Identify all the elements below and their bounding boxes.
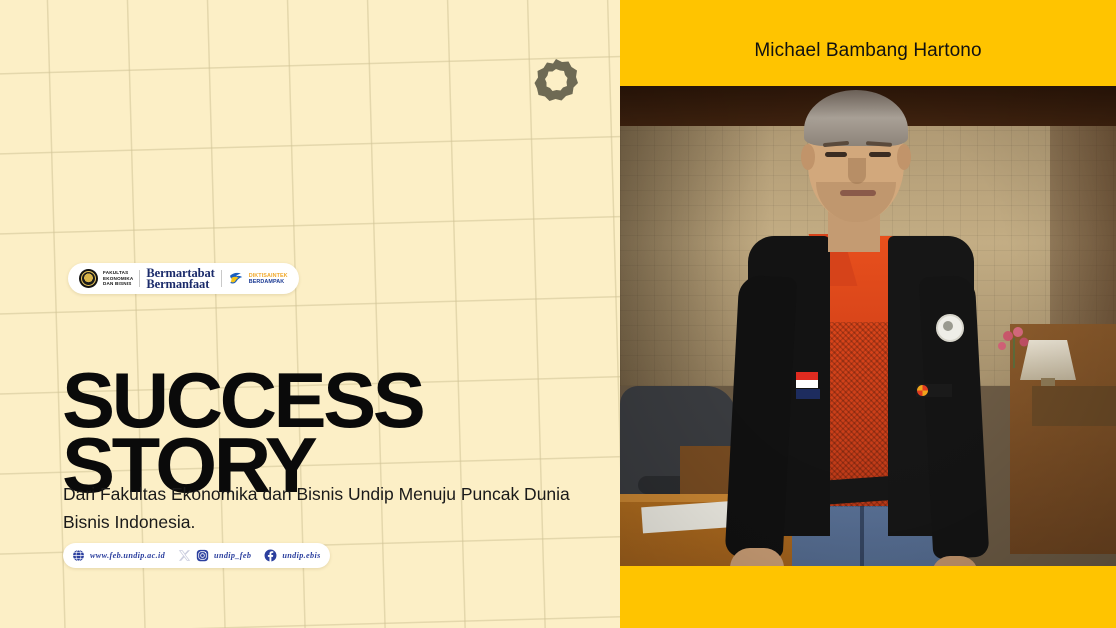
subtitle: Dari Fakultas Ekonomika dan Bisnis Undip… <box>63 480 583 536</box>
rosette-icon <box>534 58 578 102</box>
undip-seal-icon <box>79 269 98 288</box>
page-title: SUCCESS STORY <box>62 368 613 497</box>
dikti-line-1: DIKTISAINTEK <box>249 273 288 279</box>
faculty-motto: Bermartabat Bermanfaat <box>146 268 214 290</box>
diktisaintek-bird-icon <box>228 270 245 287</box>
x-twitter-icon[interactable] <box>178 549 191 562</box>
facebook-icon[interactable] <box>264 549 277 562</box>
globe-icon[interactable] <box>72 549 85 562</box>
social-links-bar: www.feb.undip.ac.id undip_feb undip.ebis <box>63 543 330 568</box>
faculty-line-3: DAN BISNIS <box>103 281 133 286</box>
faculty-name: FAKULTAS EKONOMIKA DAN BISNIS <box>103 270 133 286</box>
person-photo <box>620 86 1116 566</box>
badge-divider-1 <box>139 270 140 287</box>
website-link[interactable]: www.feb.undip.ac.id <box>90 551 165 560</box>
instagram-icon[interactable] <box>196 549 209 562</box>
facebook-handle[interactable]: undip.ebis <box>282 551 320 560</box>
motto-line-2: Bermanfaat <box>146 279 214 290</box>
poster-canvas: FAKULTAS EKONOMIKA DAN BISNIS Bermartaba… <box>0 0 1116 628</box>
badge-divider-2 <box>221 270 222 287</box>
person-name: Michael Bambang Hartono <box>620 40 1116 62</box>
accreditation-badge: FAKULTAS EKONOMIKA DAN BISNIS Bermartaba… <box>68 263 299 294</box>
instagram-handle[interactable]: undip_feb <box>214 551 251 560</box>
diktisaintek-tagline: DIKTISAINTEK BERDAMPAK <box>249 273 288 285</box>
dikti-line-2: BERDAMPAK <box>249 279 288 285</box>
photo-vignette <box>620 86 1116 566</box>
